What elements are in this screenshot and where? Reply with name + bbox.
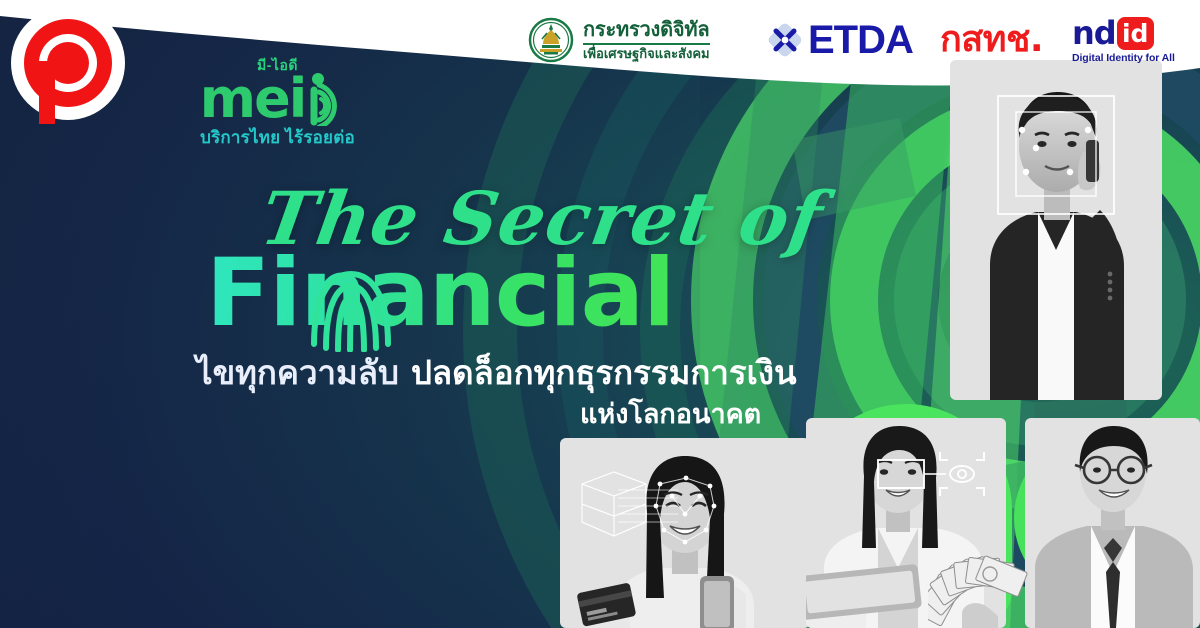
p-brand-logo [6,6,131,124]
etda-diamond-x-icon [768,23,802,57]
subhead-line-2: แห่งโลกอนาคต [580,392,761,435]
meid-wordmark: mei [190,73,365,125]
etda-wordmark: ETDA [808,20,913,60]
person-glasses-photo [1025,418,1200,628]
headline-main-wrap: Financial [206,246,806,346]
cash-fan-icon [928,548,1040,628]
meid-fingerprint-d-icon [305,72,355,126]
subhead-line-1: ไขทุกความลับปลดล็อกทุกธุรกรรมการเงิน [196,355,797,392]
woman-with-card-illustration [560,438,810,628]
subhead-thai-bold: ปลดล็อกทุกธุรกรรมการเงิน [411,354,797,391]
ndid-wordmark: nd id [1072,16,1154,50]
ndid-prefix: nd [1072,18,1116,48]
ndid-tagline: Digital Identity for All [1072,52,1175,64]
person-card-photo [560,438,810,628]
partner-logo-ndid: nd id Digital Identity for All [1072,0,1175,80]
mdes-line-2: เพื่อเศรษฐกิจและสังคม [583,45,710,61]
nbtc-wordmark: กสทช. [940,22,1043,58]
subhead-thai-light: ไขทุกความลับ [196,354,399,391]
mdes-line-1: กระทรวงดิจิทัล [583,20,710,45]
meid-wordmark-text: mei [200,73,305,125]
partner-logo-etda: ETDA [768,0,913,80]
partner-logo-nbtc: กสทช. [940,0,1043,80]
promo-banner: มี-ไอดี mei บริการไทย ไร้รอยต่อ [0,0,1200,628]
meid-logo: มี-ไอดี mei บริการไทย ไร้รอยต่อ [190,58,365,146]
man-with-glasses-illustration [1025,418,1200,628]
man-on-phone-illustration [950,60,1162,400]
meid-tagline: บริการไทย ไร้รอยต่อ [190,129,365,146]
headline-main-line: Financial [206,239,674,348]
ndid-id-badge: id [1117,17,1154,50]
thai-government-seal-icon [528,17,574,63]
partner-logo-mdes: กระทรวงดิจิทัล เพื่อเศรษฐกิจและสังคม [528,0,710,80]
person-phone-photo [950,60,1162,400]
